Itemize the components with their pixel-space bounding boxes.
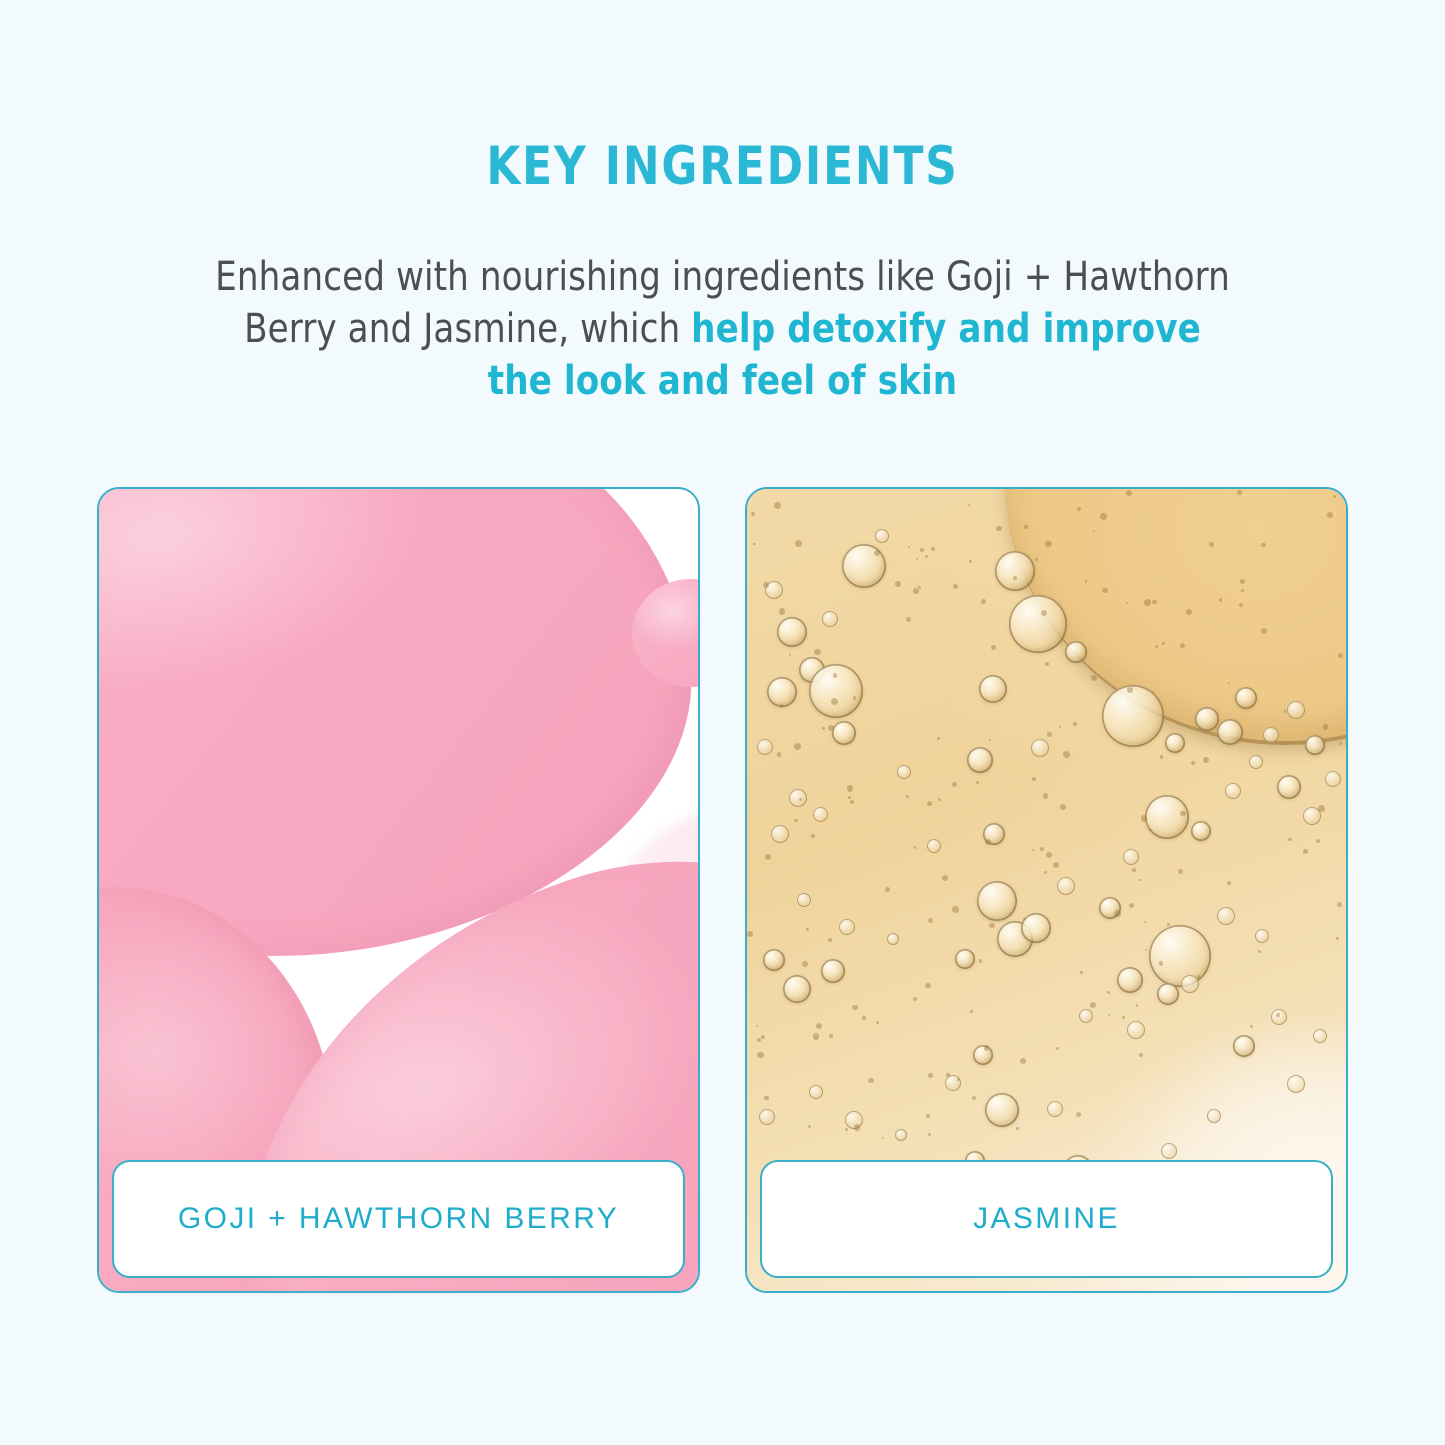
oil-bubble <box>759 1109 775 1125</box>
oil-speck <box>925 555 928 558</box>
oil-speck <box>1100 513 1107 520</box>
oil-bubble <box>985 1093 1019 1127</box>
oil-speck <box>1152 600 1157 605</box>
oil-speck <box>937 737 940 740</box>
oil-bubble <box>1065 641 1087 663</box>
oil-bubble <box>1287 1075 1305 1093</box>
oil-speck <box>928 1073 933 1078</box>
pink-blob-highlight <box>99 489 135 542</box>
oil-speck <box>1288 838 1292 842</box>
oil-speck <box>1219 598 1222 601</box>
oil-speck <box>1060 804 1066 810</box>
oil-bubble <box>1287 701 1305 719</box>
oil-speck <box>989 923 994 928</box>
ingredient-label-goji: GOJI + HAWTHORN BERRY <box>178 1202 619 1236</box>
oil-speck <box>1155 645 1158 648</box>
oil-bubble <box>895 1129 907 1141</box>
oil-bubble <box>1057 877 1075 895</box>
oil-speck <box>1144 599 1151 606</box>
oil-speck <box>854 1124 860 1130</box>
oil-bubble <box>1031 739 1049 757</box>
oil-speck <box>1053 862 1059 868</box>
oil-speck <box>1336 937 1338 939</box>
oil-speck <box>850 800 854 804</box>
oil-speck <box>1144 921 1146 923</box>
oil-speck <box>1138 879 1141 882</box>
oil-speck <box>1040 847 1044 851</box>
oil-speck <box>906 617 911 622</box>
oil-speck <box>1090 1002 1096 1008</box>
oil-bubble <box>927 839 941 853</box>
oil-speck <box>938 798 941 801</box>
oil-bubble <box>887 933 899 945</box>
oil-bubble <box>1195 707 1219 731</box>
oil-bubble <box>1263 727 1279 743</box>
oil-speck <box>1129 903 1134 908</box>
oil-bubble <box>783 975 811 1003</box>
oil-bubble <box>813 807 828 822</box>
oil-speck <box>925 983 930 988</box>
oil-speck <box>1035 558 1038 561</box>
ingredient-card-goji-hawthorn-berry[interactable]: GOJI + HAWTHORN BERRY <box>97 487 700 1293</box>
ingredient-label-jasmine: JASMINE <box>973 1202 1120 1236</box>
oil-speck <box>985 839 991 845</box>
oil-speck <box>1102 588 1108 594</box>
oil-speck <box>799 798 802 801</box>
oil-speck <box>774 502 781 509</box>
oil-bubble <box>1271 1009 1287 1025</box>
oil-speck <box>984 1045 989 1050</box>
oil-bubble <box>1325 771 1341 787</box>
oil-speck <box>970 1010 973 1013</box>
oil-bubble <box>1165 733 1185 753</box>
oil-bubble <box>1009 595 1067 653</box>
oil-speck <box>1047 732 1052 737</box>
oil-speck <box>885 887 890 892</box>
oil-speck <box>763 582 769 588</box>
oil-bubble <box>1217 907 1235 925</box>
ingredient-card-jasmine[interactable]: JASMINE <box>745 487 1348 1293</box>
oil-speck <box>991 645 996 650</box>
oil-bubble <box>1233 1035 1255 1057</box>
oil-speck <box>1186 609 1192 615</box>
oil-speck <box>1020 1058 1026 1064</box>
oil-bubble <box>977 881 1017 921</box>
oil-speck <box>848 796 851 799</box>
oil-bubble <box>1207 1109 1221 1123</box>
oil-speck <box>1180 811 1186 817</box>
oil-speck <box>931 547 935 551</box>
oil-speck <box>1023 918 1026 921</box>
oil-speck <box>1227 881 1231 885</box>
oil-speck <box>756 1025 758 1027</box>
oil-bubble <box>809 664 863 718</box>
oil-speck <box>816 1023 822 1029</box>
oil-speck <box>777 752 781 756</box>
oil-bubble <box>809 1085 823 1099</box>
oil-speck <box>989 739 992 742</box>
oil-bubble <box>1047 1101 1063 1117</box>
ingredient-label-plate-jasmine: JASMINE <box>760 1160 1333 1278</box>
oil-speck <box>779 608 786 615</box>
oil-speck <box>1093 530 1095 532</box>
oil-speck <box>1032 777 1035 780</box>
header-block: KEY INGREDIENTS Enhanced with nourishing… <box>0 140 1445 407</box>
oil-speck <box>1197 975 1201 979</box>
oil-speck <box>908 546 910 548</box>
oil-bubble <box>1249 755 1263 769</box>
oil-speck <box>1178 869 1183 874</box>
oil-bubble <box>1149 925 1211 987</box>
oil-bubble <box>771 825 789 843</box>
oil-bubble <box>1079 1009 1093 1023</box>
oil-speck <box>906 795 909 798</box>
oil-speck <box>1239 603 1243 607</box>
key-ingredients-infographic: KEY INGREDIENTS Enhanced with nourishing… <box>0 0 1445 1445</box>
oil-bubble <box>1217 719 1243 745</box>
oil-speck <box>1141 815 1148 822</box>
oil-speck <box>845 1128 848 1131</box>
oil-speck <box>946 1073 949 1076</box>
oil-bubble <box>1225 783 1241 799</box>
oil-bubble <box>1305 735 1325 755</box>
oil-bubble <box>777 617 807 647</box>
oil-speck <box>1114 910 1121 917</box>
subtitle-plain-part-1: Enhanced with nourishing ingredients lik… <box>215 254 1052 300</box>
oil-bubble <box>1235 687 1257 709</box>
oil-bubble <box>757 739 773 755</box>
oil-speck <box>1318 805 1325 812</box>
oil-speck <box>1284 710 1287 713</box>
oil-speck <box>813 1033 820 1040</box>
oil-speck <box>981 599 986 604</box>
oil-speck <box>1237 490 1242 495</box>
oil-speck <box>1250 1025 1253 1028</box>
oil-bubble <box>1102 685 1164 747</box>
oil-bubble <box>979 675 1007 703</box>
oil-bubble <box>1157 983 1179 1005</box>
oil-bubble <box>1117 967 1143 993</box>
oil-speck <box>1045 662 1049 666</box>
oil-speck <box>1044 871 1047 874</box>
oil-speck <box>802 961 808 967</box>
oil-speck <box>1149 829 1151 831</box>
page-title: KEY INGREDIENTS <box>58 140 1387 193</box>
oil-speck <box>794 743 801 750</box>
oil-speck <box>814 649 821 656</box>
oil-bubble <box>763 949 785 971</box>
oil-speck <box>847 785 854 792</box>
oil-speck <box>1167 923 1170 926</box>
oil-bubble <box>822 611 838 627</box>
oil-speck <box>1013 576 1017 580</box>
oil-speck <box>1126 490 1132 496</box>
oil-bubble <box>1191 821 1211 841</box>
page-subtitle: Enhanced with nourishing ingredients lik… <box>36 251 1409 407</box>
oil-bubble <box>955 949 975 969</box>
oil-speck <box>914 846 917 849</box>
oil-speck <box>1045 541 1051 547</box>
oil-bubble <box>767 677 797 707</box>
oil-speck <box>852 1005 858 1011</box>
oil-bubble <box>1123 849 1139 865</box>
oil-bubble <box>1161 1143 1177 1159</box>
oil-bubble <box>821 959 845 983</box>
oil-speck <box>794 819 798 823</box>
oil-speck <box>833 673 838 678</box>
oil-speck <box>916 558 918 560</box>
oil-speck <box>926 1114 930 1118</box>
oil-speck <box>795 540 802 547</box>
oil-bubble <box>1313 1029 1327 1043</box>
ingredient-card-group: GOJI + HAWTHORN BERRY JASMINE <box>97 487 1348 1294</box>
oil-bubble <box>1127 1021 1145 1039</box>
oil-speck <box>1122 1016 1125 1019</box>
oil-speck <box>969 560 972 563</box>
oil-speck <box>1333 495 1336 498</box>
oil-speck <box>806 928 809 931</box>
oil-speck <box>1085 580 1088 583</box>
oil-bubble <box>839 919 855 935</box>
oil-bubble <box>789 789 807 807</box>
oil-speck <box>829 1034 833 1038</box>
oil-bubble <box>832 721 856 745</box>
oil-bubble <box>797 893 811 907</box>
oil-bubble <box>967 747 993 773</box>
ingredient-label-plate-goji: GOJI + HAWTHORN BERRY <box>112 1160 685 1278</box>
oil-speck <box>920 548 924 552</box>
oil-bubble <box>1277 775 1301 799</box>
oil-speck <box>1016 1127 1019 1130</box>
oil-bubble <box>875 529 889 543</box>
oil-speck <box>1107 991 1110 994</box>
oil-bubble <box>897 765 911 779</box>
oil-speck <box>1145 949 1147 951</box>
oil-bubble <box>1145 795 1189 839</box>
oil-speck <box>953 584 958 589</box>
oil-speck <box>1327 512 1333 518</box>
oil-speck <box>1162 642 1165 645</box>
oil-bubble <box>1255 929 1269 943</box>
oil-bubble <box>995 551 1035 591</box>
oil-speck <box>1032 849 1034 851</box>
